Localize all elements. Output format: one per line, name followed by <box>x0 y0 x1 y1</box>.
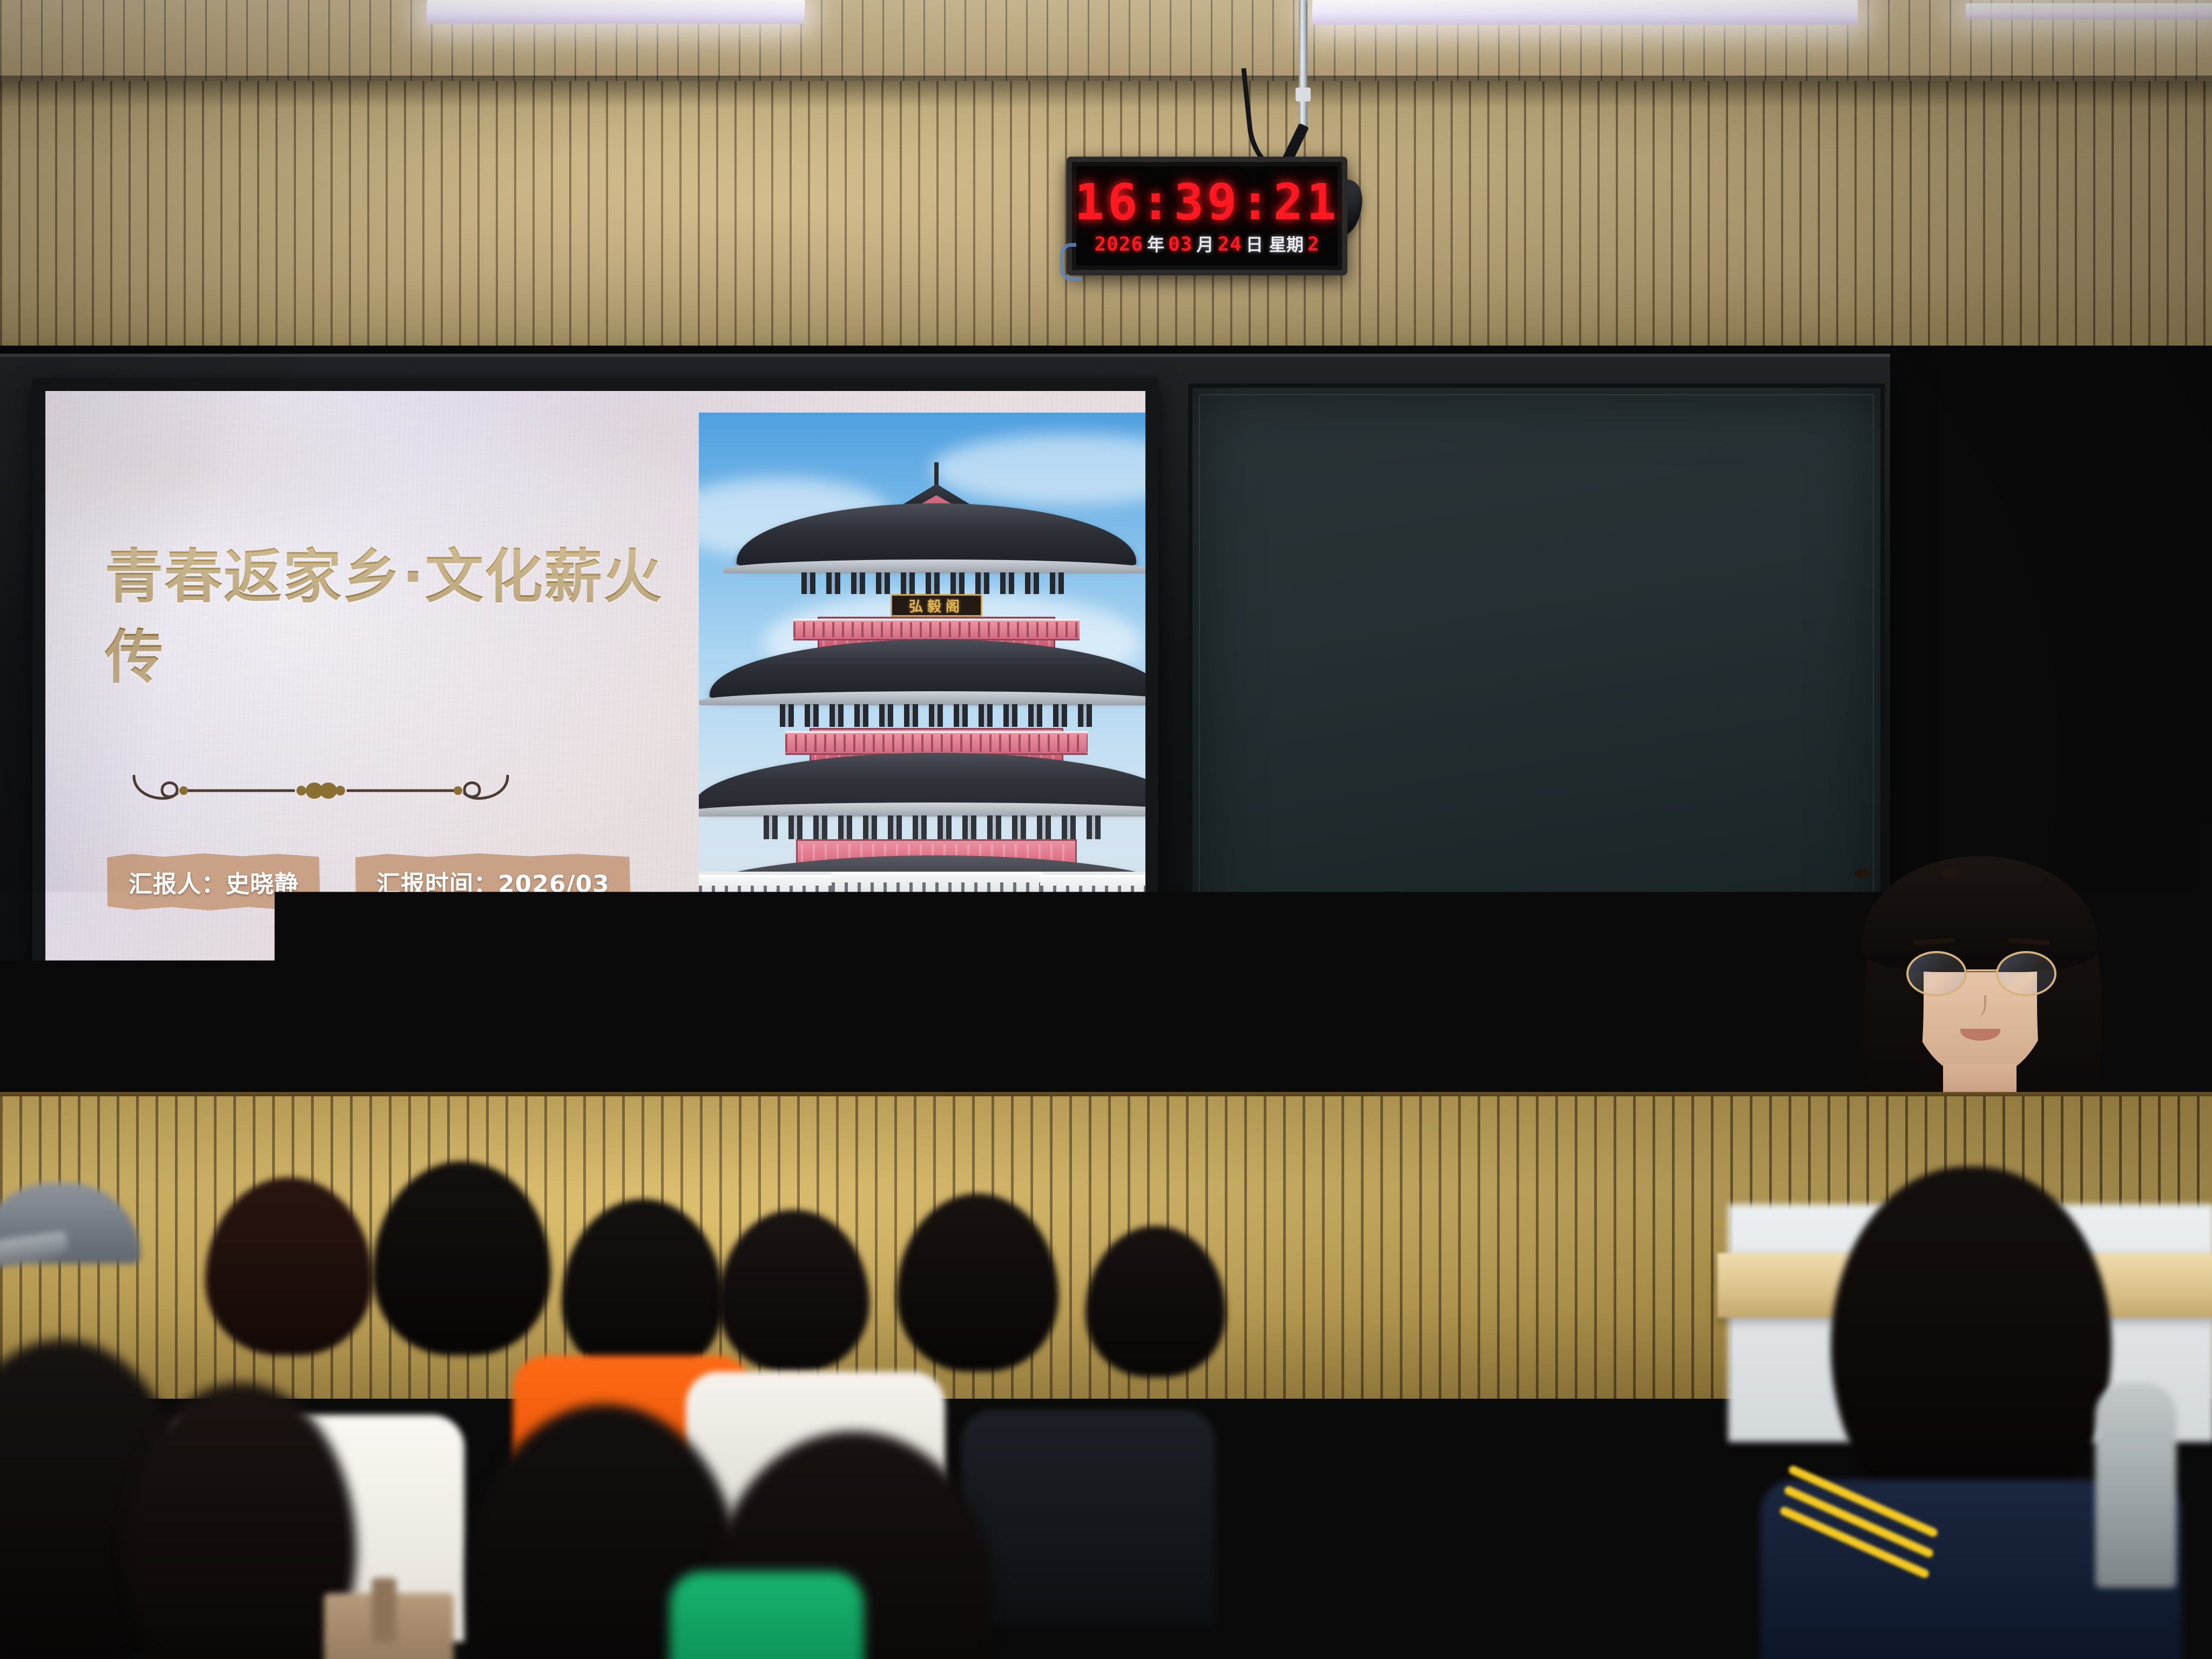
display-button[interactable] <box>687 1070 699 1075</box>
slide-ornament-divider <box>132 766 510 815</box>
clock-month-value: 03 <box>1168 235 1192 254</box>
bag-strap <box>372 1578 396 1643</box>
ceiling-shadow <box>0 76 2212 108</box>
chalk-tray-lower <box>1183 1040 1890 1056</box>
audience <box>0 1177 1566 1659</box>
display-button[interactable] <box>606 1070 618 1075</box>
display-control-buttons[interactable] <box>579 1070 753 1075</box>
pagoda-stair-panel <box>869 945 1004 1010</box>
clock-day-unit: 日 <box>1244 236 1265 253</box>
ceiling <box>0 0 2212 81</box>
audience-cap-icon <box>0 1183 140 1264</box>
display-button[interactable] <box>660 1070 672 1075</box>
audience-green-sleeve <box>670 1572 864 1659</box>
power-button[interactable] <box>544 1066 563 1084</box>
display-screen[interactable]: 弘毅阁 <box>45 391 1145 1029</box>
chalkboard-inner-border <box>1199 394 1874 1004</box>
glasses-icon <box>1906 951 2056 996</box>
pagoda-plaque: 弘毅阁 <box>891 594 982 617</box>
presenter-eye-right <box>1941 869 1958 878</box>
pagoda-balustrade-right <box>1040 875 1145 905</box>
display-button[interactable] <box>579 1070 591 1075</box>
magnetic-area-label-en: Magnetic Area <box>1501 1022 1574 1033</box>
display-button[interactable] <box>714 1070 726 1075</box>
audience-dark-jacket <box>961 1410 1215 1626</box>
glasses-lens-right <box>1996 951 2056 996</box>
magnetic-area-label: ⌞吸附区 /Magnetic Area⌟ <box>1437 1020 1594 1033</box>
ceiling-slat-texture <box>0 0 2212 81</box>
ceiling-light-tube-right <box>1966 3 2212 19</box>
clock-time: 16:39:21 <box>1074 178 1339 227</box>
audience-head <box>205 1177 373 1355</box>
cap-brim <box>0 1231 69 1274</box>
display-button[interactable] <box>741 1070 753 1075</box>
clock-month-unit: 月 <box>1194 236 1216 253</box>
seat-wood-slat <box>1577 1619 1696 1659</box>
slide-presenter-chip: 汇报人：史晓静 <box>106 853 321 911</box>
clock-weekday-value: 2 <box>1307 235 1320 254</box>
led-wall-clock: 16:39:21 2026 年 03 月 24 日 星期 2 <box>1067 157 1347 275</box>
pagoda-brackets-2 <box>780 704 1093 727</box>
clock-weekday-label: 星期 <box>1267 236 1306 253</box>
slide-title: 青春返家乡·文化薪火传 <box>105 537 666 698</box>
pagoda-brackets-3 <box>764 815 1109 839</box>
audience-head <box>718 1210 869 1372</box>
audience-head <box>896 1193 1058 1372</box>
pagoda-eave-3 <box>699 802 1145 817</box>
bracket-right-icon: ⌟ <box>1574 1022 1594 1033</box>
display-button[interactable] <box>633 1070 645 1075</box>
magnetic-area-label-cn: 吸附区 <box>1456 1022 1486 1033</box>
chalkboard <box>1188 383 1885 1015</box>
bracket-left-icon: ⌞ <box>1437 1022 1456 1033</box>
clock-year-value: 2026 <box>1094 235 1143 254</box>
audience-head <box>373 1161 551 1355</box>
pagoda-balustrade-center <box>832 872 1042 902</box>
presentation-slide: 弘毅阁 <box>45 391 1145 1029</box>
student-head <box>1831 1166 2112 1512</box>
slide-meta-row: 汇报人：史晓静 汇报时间：2026/03 <box>106 853 632 911</box>
pagoda-brackets-1 <box>801 572 1071 594</box>
display-brand-label: HiteVision <box>559 1050 652 1068</box>
pagoda-stone-base <box>699 872 1145 1029</box>
chalkboard-brand-badge: 智慧黑板 <box>1765 1025 1808 1034</box>
presenter-eye-left <box>1854 869 1871 878</box>
glasses-lens-left <box>1906 951 1967 996</box>
microphone-coupler <box>1296 87 1311 102</box>
pagoda-balustrade-left <box>699 875 834 905</box>
slide-date-chip: 汇报时间：2026/03 <box>354 853 632 911</box>
pagoda-rail-1 <box>793 619 1080 640</box>
pagoda-rail-2 <box>785 731 1088 755</box>
clock-date: 2026 年 03 月 24 日 星期 2 <box>1094 235 1319 254</box>
clock-day-value: 24 <box>1218 235 1242 254</box>
audience-head <box>562 1199 724 1377</box>
interactive-smart-display[interactable]: 弘毅阁 <box>32 378 1158 1042</box>
seat-armrest-far-right <box>2095 1382 2176 1588</box>
clock-year-unit: 年 <box>1145 236 1166 253</box>
glasses-bridge <box>1967 969 1997 972</box>
brand-mark-icon <box>1765 1026 1777 1034</box>
pagoda-photo: 弘毅阁 <box>699 413 1145 1029</box>
chalkboard-badge-text: 智慧黑板 <box>1781 1025 1808 1034</box>
ceiling-light-tube-center <box>1312 0 1858 25</box>
classroom-scene: 16:39:21 2026 年 03 月 24 日 星期 2 <box>0 0 2212 1659</box>
ceiling-light-tube-left <box>426 0 805 24</box>
microphone-rod <box>1299 0 1307 130</box>
audience-head <box>1085 1226 1226 1377</box>
